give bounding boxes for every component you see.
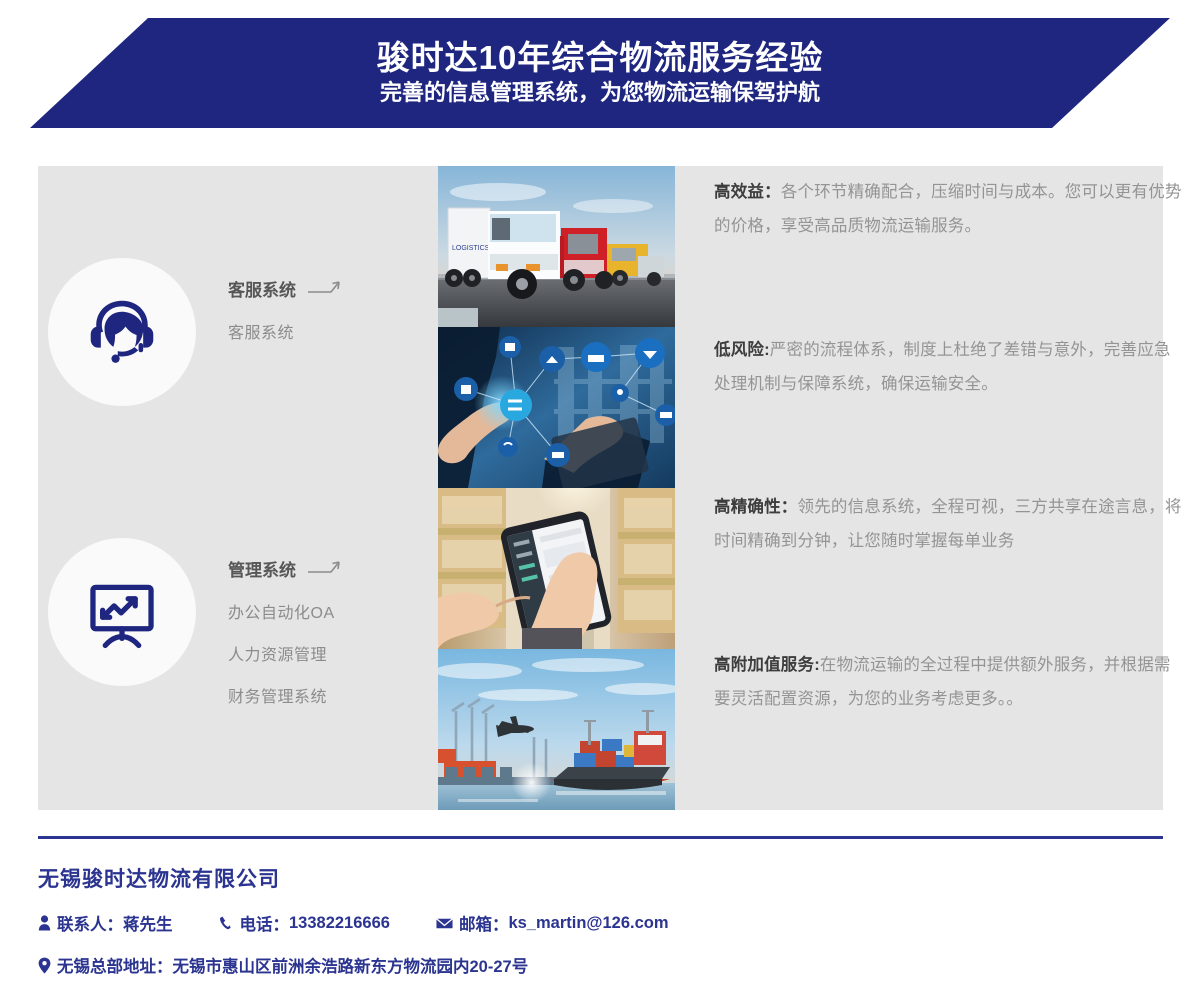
warehouse-tablet-photo	[438, 488, 675, 649]
feature-term: 低风险:	[714, 341, 770, 359]
feature-term: 高效益：	[714, 183, 781, 201]
phone-icon	[219, 915, 234, 931]
system-heading-label: 管理系统	[228, 556, 296, 581]
feature-item: 低风险:严密的流程体系，制度上杜绝了差错与意外，完善应急处理机制与保障系统，确保…	[714, 334, 1186, 402]
monitor-chart-icon	[48, 538, 196, 686]
photo-column: LOGISTICS	[438, 166, 675, 810]
feature-text: 各个环节精确配合，压缩时间与成本。您可以更有优势的价格，享受高品质物流运输服务。	[714, 183, 1182, 235]
hero-banner: 骏时达10年综合物流服务经验 完善的信息管理系统，为您物流运输保驾护航	[0, 18, 1200, 128]
headset-operator-icon	[48, 258, 196, 406]
feature-paragraph: 高精确性：领先的信息系统，全程可视，三方共享在途言息，将时间精确到分钟，让您随时…	[714, 491, 1186, 559]
banner-shape: 骏时达10年综合物流服务经验 完善的信息管理系统，为您物流运输保驾护航	[30, 18, 1170, 128]
features-column: 高效益：各个环节精确配合，压缩时间与成本。您可以更有优势的价格，享受高品质物流运…	[675, 166, 1163, 810]
feature-paragraph: 高附加值服务:在物流运输的全过程中提供额外服务，并根据需要灵活配置资源，为您的业…	[714, 649, 1186, 717]
port-ship-airplane-photo	[438, 649, 675, 810]
system-block-customer-service[interactable]: 客服系统 客服系统	[48, 258, 341, 406]
company-name: 无锡骏时达物流有限公司	[38, 863, 1163, 893]
feature-paragraph: 低风险:严密的流程体系，制度上杜绝了差错与意外，完善应急处理机制与保障系统，确保…	[714, 334, 1186, 402]
logistics-network-tablet-photo	[438, 327, 675, 488]
person-icon	[38, 915, 51, 931]
contact-email-label: 邮箱：	[459, 911, 509, 935]
location-pin-icon	[38, 957, 51, 974]
feature-term: 高精确性：	[714, 498, 798, 516]
system-heading-label: 客服系统	[228, 276, 296, 301]
contact-person-value: 蒋先生	[123, 911, 173, 935]
mail-icon	[436, 917, 453, 930]
system-item[interactable]: 客服系统	[228, 319, 341, 343]
system-text-management: 管理系统 办公自动化OA 人力资源管理 财务管理系统	[228, 538, 341, 707]
contact-row: 联系人： 蒋先生 电话： 13382216666 邮箱： ks_martin@1…	[38, 911, 1163, 935]
feature-text: 严密的流程体系，制度上杜绝了差错与意外，完善应急处理机制与保障系统，确保运输安全…	[714, 341, 1171, 393]
banner-title: 骏时达10年综合物流服务经验	[377, 40, 824, 77]
address-row[interactable]: 无锡总部地址： 无锡市惠山区前洲余浩路新东方物流园内20-27号	[38, 953, 1163, 977]
address-label: 无锡总部地址：	[57, 953, 173, 977]
system-heading-customer-service: 客服系统	[228, 276, 341, 301]
svg-text:LOGISTICS: LOGISTICS	[452, 245, 490, 252]
systems-column: 客服系统 客服系统	[38, 166, 438, 810]
content-panel: 客服系统 客服系统	[38, 166, 1163, 810]
banner-subtitle: 完善的信息管理系统，为您物流运输保驾护航	[380, 80, 820, 106]
contact-phone[interactable]: 电话： 13382216666	[219, 911, 390, 935]
feature-item: 高效益：各个环节精确配合，压缩时间与成本。您可以更有优势的价格，享受高品质物流运…	[714, 176, 1186, 244]
arrow-right-up-icon	[307, 559, 341, 579]
contact-phone-label: 电话：	[240, 911, 290, 935]
trucks-on-road-photo: LOGISTICS	[438, 166, 675, 327]
arrow-right-up-icon	[307, 279, 341, 299]
contact-person[interactable]: 联系人： 蒋先生	[38, 911, 173, 935]
feature-term: 高附加值服务:	[714, 656, 820, 674]
feature-item: 高附加值服务:在物流运输的全过程中提供额外服务，并根据需要灵活配置资源，为您的业…	[714, 649, 1186, 717]
system-item[interactable]: 人力资源管理	[228, 641, 341, 665]
system-item[interactable]: 办公自动化OA	[228, 599, 341, 623]
footer: 无锡骏时达物流有限公司 联系人： 蒋先生 电话： 13382216666	[38, 836, 1163, 977]
system-item[interactable]: 财务管理系统	[228, 683, 341, 707]
address-value: 无锡市惠山区前洲余浩路新东方物流园内20-27号	[173, 953, 529, 977]
contact-email[interactable]: 邮箱： ks_martin@126.com	[436, 911, 669, 935]
feature-paragraph: 高效益：各个环节精确配合，压缩时间与成本。您可以更有优势的价格，享受高品质物流运…	[714, 176, 1186, 244]
footer-divider	[38, 836, 1163, 839]
feature-item: 高精确性：领先的信息系统，全程可视，三方共享在途言息，将时间精确到分钟，让您随时…	[714, 491, 1186, 559]
contact-person-label: 联系人：	[57, 911, 123, 935]
banner-content: 骏时达10年综合物流服务经验 完善的信息管理系统，为您物流运输保驾护航	[30, 18, 1170, 128]
contact-email-value: ks_martin@126.com	[508, 914, 668, 933]
system-heading-management: 管理系统	[228, 556, 341, 581]
system-block-management[interactable]: 管理系统 办公自动化OA 人力资源管理 财务管理系统	[48, 538, 341, 707]
system-text-customer-service: 客服系统 客服系统	[228, 258, 341, 343]
contact-phone-value: 13382216666	[289, 914, 390, 933]
